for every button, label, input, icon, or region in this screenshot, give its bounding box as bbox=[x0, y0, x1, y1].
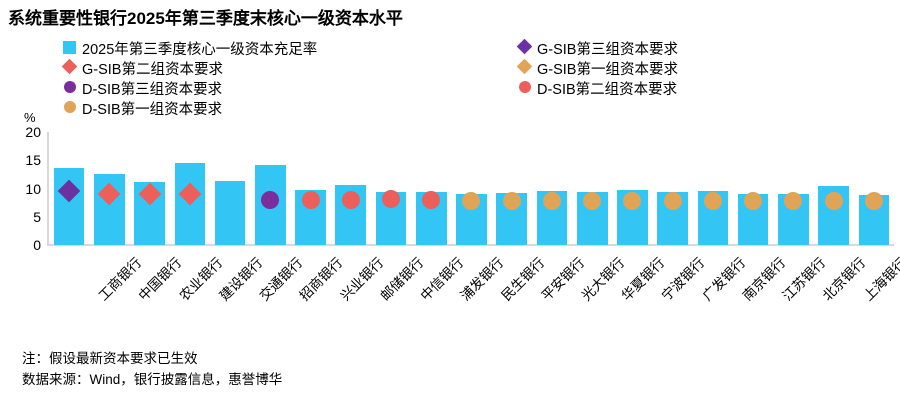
x-axis-tick-label: 南京银行 bbox=[737, 252, 789, 304]
bar-group bbox=[331, 132, 371, 245]
bar-group bbox=[854, 132, 894, 245]
legend-column-left: 2025年第三季度核心一级资本充足率G-SIB第二组资本要求D-SIB第三组资本… bbox=[62, 38, 517, 118]
chart-footnotes: 注：假设最新资本要求已生效数据来源：Wind，银行披露信息，惠誉博华 bbox=[22, 348, 282, 390]
diamond-marker-icon bbox=[517, 38, 533, 54]
y-axis-tick-label: 10 bbox=[25, 182, 41, 196]
legend-item[interactable]: 2025年第三季度核心一级资本充足率 bbox=[62, 38, 517, 58]
legend-swatch bbox=[517, 61, 532, 76]
x-axis-tick-label: 平安银行 bbox=[536, 252, 588, 304]
x-axis-tick-label: 北京银行 bbox=[817, 252, 869, 304]
x-axis-tick-label: 民生银行 bbox=[495, 252, 547, 304]
bar-group bbox=[814, 132, 854, 245]
x-axis-tick-label: 宁波银行 bbox=[656, 252, 708, 304]
circle-data-marker[interactable] bbox=[543, 192, 561, 210]
plot-area: % 20151050 bbox=[0, 112, 900, 252]
circle-data-marker[interactable] bbox=[825, 192, 843, 210]
circle-data-marker[interactable] bbox=[865, 192, 883, 210]
circle-marker-icon bbox=[64, 81, 76, 93]
bar-group bbox=[49, 132, 89, 245]
bar-series-container bbox=[49, 132, 894, 245]
bar-group bbox=[290, 132, 330, 245]
x-axis-tick-label: 农业银行 bbox=[173, 252, 225, 304]
bar-group bbox=[492, 132, 532, 245]
x-axis-tick-label: 兴业银行 bbox=[334, 252, 386, 304]
y-axis-tick-label: 5 bbox=[33, 210, 41, 224]
bar-group bbox=[612, 132, 652, 245]
bar-group bbox=[89, 132, 129, 245]
x-axis-tick-label: 江苏银行 bbox=[777, 252, 829, 304]
x-axis-tick-label: 中信银行 bbox=[415, 252, 467, 304]
bar-group bbox=[572, 132, 612, 245]
x-axis-tick-label: 工商银行 bbox=[93, 252, 145, 304]
legend-column-right: G-SIB第三组资本要求G-SIB第一组资本要求D-SIB第二组资本要求 bbox=[517, 38, 887, 118]
legend-item-label: G-SIB第三组资本要求 bbox=[537, 38, 678, 59]
legend-item-label: 2025年第三季度核心一级资本充足率 bbox=[82, 38, 317, 59]
x-axis-tick-label: 交通银行 bbox=[254, 252, 306, 304]
x-axis-tick-label: 华夏银行 bbox=[616, 252, 668, 304]
bar-group bbox=[693, 132, 733, 245]
legend-swatch bbox=[62, 81, 77, 96]
bar-group bbox=[210, 132, 250, 245]
bar-group bbox=[733, 132, 773, 245]
bar-group bbox=[532, 132, 572, 245]
x-axis-tick-labels: 工商银行中国银行农业银行建设银行交通银行招商银行兴业银行邮储银行中信银行浦发银行… bbox=[49, 252, 894, 342]
chart-legend: 2025年第三季度核心一级资本充足率G-SIB第二组资本要求D-SIB第三组资本… bbox=[62, 38, 892, 118]
bar-group bbox=[653, 132, 693, 245]
legend-item[interactable]: G-SIB第三组资本要求 bbox=[517, 38, 887, 58]
x-axis-tick-label: 邮储银行 bbox=[375, 252, 427, 304]
page-title: 系统重要性银行2025年第三季度末核心一级资本水平 bbox=[8, 4, 403, 29]
legend-item[interactable]: D-SIB第二组资本要求 bbox=[517, 78, 887, 98]
circle-data-marker[interactable] bbox=[744, 192, 762, 210]
bar-group bbox=[129, 132, 169, 245]
legend-swatch bbox=[62, 41, 77, 56]
circle-data-marker[interactable] bbox=[422, 191, 440, 209]
bar-group bbox=[371, 132, 411, 245]
legend-swatch bbox=[62, 61, 77, 76]
legend-item-label: G-SIB第一组资本要求 bbox=[537, 58, 678, 79]
legend-item[interactable]: G-SIB第一组资本要求 bbox=[517, 58, 887, 78]
circle-data-marker[interactable] bbox=[503, 192, 521, 210]
legend-item[interactable]: D-SIB第三组资本要求 bbox=[62, 78, 517, 98]
square-marker-icon bbox=[63, 41, 76, 54]
x-axis-tick-label: 广发银行 bbox=[697, 252, 749, 304]
y-axis-tick-label: 15 bbox=[25, 153, 41, 167]
y-axis-tick-label: 20 bbox=[25, 125, 41, 139]
bar-group bbox=[411, 132, 451, 245]
circle-marker-icon bbox=[519, 81, 531, 93]
bar-group bbox=[250, 132, 290, 245]
x-axis-tick-label: 建设银行 bbox=[214, 252, 266, 304]
diamond-marker-icon bbox=[517, 58, 533, 74]
circle-data-marker[interactable] bbox=[342, 191, 360, 209]
bar-group bbox=[773, 132, 813, 245]
legend-item[interactable]: G-SIB第二组资本要求 bbox=[62, 58, 517, 78]
legend-item-label: D-SIB第二组资本要求 bbox=[537, 78, 677, 99]
legend-item-label: D-SIB第三组资本要求 bbox=[82, 78, 222, 99]
x-axis-tick-label: 招商银行 bbox=[294, 252, 346, 304]
bar-group bbox=[170, 132, 210, 245]
circle-data-marker[interactable] bbox=[302, 191, 320, 209]
x-axis-tick-label: 浦发银行 bbox=[455, 252, 507, 304]
bar-group bbox=[451, 132, 491, 245]
circle-marker-icon bbox=[64, 101, 76, 113]
y-axis-tick-labels: 20151050 bbox=[0, 112, 45, 252]
circle-data-marker[interactable] bbox=[664, 192, 682, 210]
diamond-marker-icon bbox=[62, 58, 78, 74]
x-axis-tick-label: 光大银行 bbox=[576, 252, 628, 304]
bar[interactable] bbox=[215, 181, 246, 245]
legend-swatch bbox=[517, 41, 532, 56]
legend-item-label: G-SIB第二组资本要求 bbox=[82, 58, 223, 79]
circle-data-marker[interactable] bbox=[261, 191, 279, 209]
x-axis-tick-label: 中国银行 bbox=[133, 252, 185, 304]
footnote-line: 数据来源：Wind，银行披露信息，惠誉博华 bbox=[22, 369, 282, 390]
legend-swatch bbox=[517, 81, 532, 96]
circle-data-marker[interactable] bbox=[704, 192, 722, 210]
y-axis-tick-label: 0 bbox=[33, 238, 41, 252]
footnote-line: 注：假设最新资本要求已生效 bbox=[22, 348, 282, 369]
